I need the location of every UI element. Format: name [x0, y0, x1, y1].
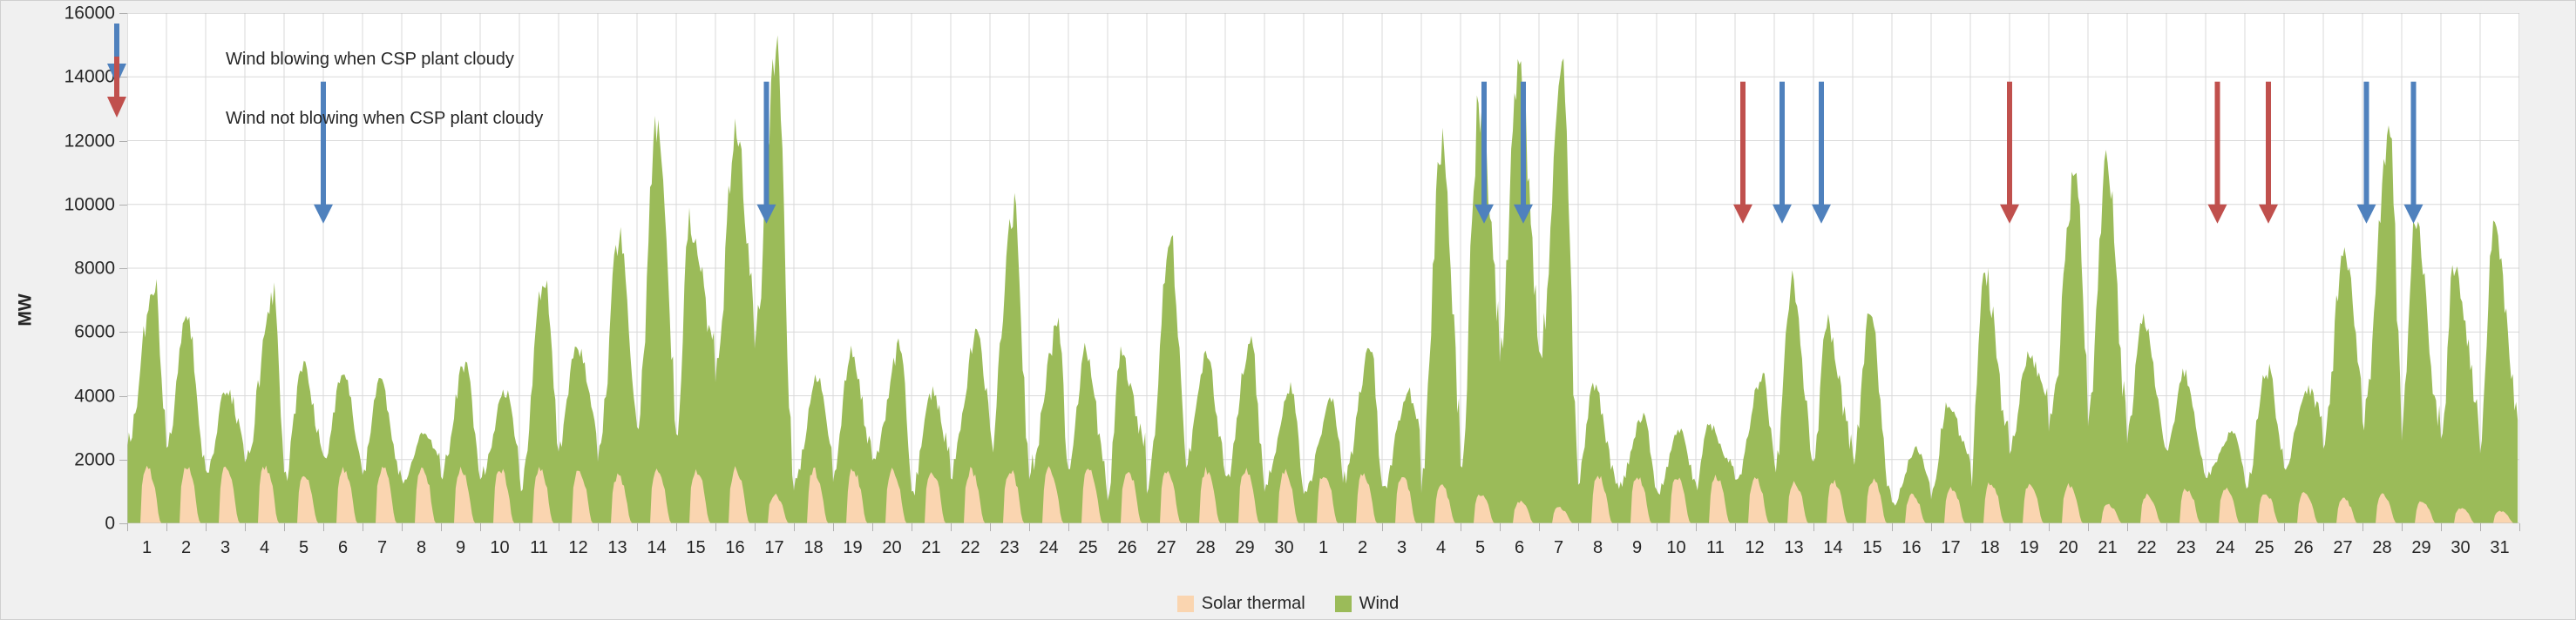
x-axis-tick-label: 13 — [607, 539, 627, 556]
annotation-key-wind-blowing-label: Wind blowing when CSP plant cloudy — [226, 50, 514, 69]
x-axis-tick-mark — [1774, 523, 1775, 531]
x-axis-tick-label: 30 — [2451, 539, 2470, 556]
x-axis-tick-mark — [1853, 523, 1854, 531]
x-axis-tick-mark — [1539, 523, 1540, 531]
annotation-key-arrow-wind-not-blowing — [104, 55, 130, 119]
chart-frame: Spain Electricity Sep 2015 wind and sola… — [0, 0, 2576, 620]
x-axis-tick-mark — [2519, 523, 2520, 531]
x-axis-tick-label: 4 — [1436, 539, 1446, 556]
annotation-arrow-blue-5 — [1773, 82, 1792, 224]
x-axis-tick-mark — [402, 523, 403, 531]
x-axis-tick-mark — [1931, 523, 1932, 531]
x-axis-tick-label: 30 — [1274, 539, 1293, 556]
x-axis-tick-label: 18 — [803, 539, 823, 556]
x-axis-tick-label: 17 — [764, 539, 783, 556]
x-axis-tick-mark — [833, 523, 834, 531]
x-axis-tick-mark — [2284, 523, 2285, 531]
x-axis-tick-label: 25 — [1078, 539, 1097, 556]
x-axis-tick-label: 31 — [2490, 539, 2509, 556]
x-axis-tick-label: 27 — [2333, 539, 2352, 556]
x-axis-tick-label: 28 — [2372, 539, 2391, 556]
x-axis-tick-mark — [872, 523, 873, 531]
y-axis-tick-label: 12000 — [64, 131, 115, 150]
x-axis-tick-label: 21 — [2098, 539, 2117, 556]
x-axis-tick-label: 12 — [568, 539, 587, 556]
x-axis-tick-label: 23 — [2176, 539, 2195, 556]
x-axis-tick-mark — [1264, 523, 1265, 531]
y-axis-tick-mark — [119, 523, 127, 524]
x-axis-tick-label: 24 — [2215, 539, 2234, 556]
x-axis-tick-mark — [715, 523, 716, 531]
x-axis-tick-mark — [519, 523, 520, 531]
x-axis-tick-mark — [480, 523, 481, 531]
legend-swatch-icon — [1177, 596, 1194, 612]
x-axis-tick-mark — [1108, 523, 1108, 531]
x-axis-tick-label: 12 — [1745, 539, 1764, 556]
x-axis-tick-mark — [1696, 523, 1697, 531]
x-axis-tick-mark — [2480, 523, 2481, 531]
x-axis-tick-label: 3 — [1397, 539, 1407, 556]
x-axis-tick-label: 21 — [921, 539, 940, 556]
x-axis-tick-mark — [2441, 523, 2442, 531]
x-axis-tick-label: 5 — [1475, 539, 1485, 556]
y-axis-tick-mark — [119, 141, 127, 142]
x-axis-tick-label: 9 — [1632, 539, 1642, 556]
x-axis-tick-mark — [1382, 523, 1383, 531]
x-axis-tick-label: 20 — [882, 539, 901, 556]
x-axis-tick-label: 29 — [1235, 539, 1254, 556]
x-axis-tick-mark — [1304, 523, 1305, 531]
x-axis-tick-mark — [598, 523, 599, 531]
x-axis-tick-label: 17 — [1941, 539, 1960, 556]
annotation-arrow-red-8 — [2208, 82, 2227, 224]
x-axis-tick-label: 18 — [1980, 539, 1999, 556]
annotation-key-wind-not-blowing: Wind not blowing when CSP plant cloudy — [226, 109, 543, 129]
x-axis-tick-mark — [1068, 523, 1069, 531]
x-axis-tick-mark — [245, 523, 246, 531]
y-axis-tick-label: 2000 — [74, 450, 115, 468]
x-axis-tick-mark — [990, 523, 991, 531]
x-axis-tick-label: 11 — [530, 539, 548, 556]
x-axis-tick-label: 20 — [2058, 539, 2078, 556]
x-axis-tick-mark — [637, 523, 638, 531]
x-axis-tick-label: 4 — [260, 539, 269, 556]
x-axis-tick-label: 19 — [843, 539, 862, 556]
x-axis-tick-mark — [2323, 523, 2324, 531]
x-axis-tick-mark — [166, 523, 167, 531]
x-axis-tick-label: 11 — [1706, 539, 1725, 556]
x-axis-tick-mark — [1578, 523, 1579, 531]
x-axis-tick-mark — [284, 523, 285, 531]
x-axis-tick-label: 8 — [1593, 539, 1603, 556]
x-axis-tick-mark — [1735, 523, 1736, 531]
legend-label: Solar thermal — [1202, 595, 1305, 612]
y-axis-tick-label: 10000 — [64, 195, 115, 213]
annotation-arrow-blue-11 — [2404, 82, 2423, 224]
x-axis-tick-label: 27 — [1156, 539, 1176, 556]
x-axis-tick-mark — [323, 523, 324, 531]
x-axis-tick-mark — [1892, 523, 1893, 531]
x-axis-tick-mark — [1225, 523, 1226, 531]
x-axis-tick-mark — [1421, 523, 1422, 531]
x-axis-tick-label: 7 — [377, 539, 387, 556]
x-axis-tick-mark — [1147, 523, 1148, 531]
annotation-arrow-red-7 — [2000, 82, 2019, 224]
annotation-arrows — [127, 13, 2519, 523]
x-axis-tick-label: 16 — [1901, 539, 1921, 556]
x-axis-tick-label: 15 — [686, 539, 705, 556]
x-axis-tick-label: 19 — [2019, 539, 2038, 556]
plot-area — [127, 13, 2519, 523]
x-axis-tick-mark — [1461, 523, 1461, 531]
x-axis-tick-mark — [2245, 523, 2246, 531]
x-axis-tick-mark — [2010, 523, 2010, 531]
x-axis-tick-mark — [2127, 523, 2128, 531]
x-axis-tick-label: 22 — [960, 539, 980, 556]
x-axis-tick-mark — [363, 523, 363, 531]
x-axis-tick-label: 29 — [2411, 539, 2430, 556]
x-axis-tick-label: 26 — [1117, 539, 1136, 556]
x-axis-tick-mark — [1617, 523, 1618, 531]
x-axis-tick-mark — [912, 523, 912, 531]
annotation-key-wind-not-blowing-label: Wind not blowing when CSP plant cloudy — [226, 109, 543, 128]
y-axis-tick-label: 4000 — [74, 387, 115, 405]
x-axis-tick-label: 10 — [490, 539, 509, 556]
y-axis-tick-mark — [119, 396, 127, 397]
chart-legend: Solar thermalWind — [1, 595, 2575, 612]
x-axis-tick-mark — [441, 523, 442, 531]
x-axis-tick-mark — [755, 523, 756, 531]
x-axis-tick-label: 3 — [220, 539, 230, 556]
x-axis-tick-label: 22 — [2137, 539, 2156, 556]
x-axis-tick-label: 5 — [299, 539, 308, 556]
x-axis-tick-mark — [1343, 523, 1344, 531]
x-axis-tick-label: 23 — [1000, 539, 1019, 556]
annotation-arrow-blue-0 — [314, 82, 333, 224]
x-axis-tick-label: 16 — [725, 539, 744, 556]
y-axis-tick-mark — [119, 332, 127, 333]
legend-item-wind[interactable]: Wind — [1335, 595, 1400, 612]
y-axis-tick-label: 16000 — [64, 4, 115, 23]
x-axis-tick-mark — [2166, 523, 2167, 531]
y-axis-tick-mark — [119, 13, 127, 14]
x-axis-tick-mark — [951, 523, 952, 531]
legend-label: Wind — [1359, 595, 1400, 612]
x-axis-tick-label: 26 — [2294, 539, 2313, 556]
legend-swatch-icon — [1335, 596, 1352, 612]
x-axis-tick-mark — [206, 523, 207, 531]
y-axis-tick-mark — [119, 460, 127, 461]
y-axis-tick-label: 6000 — [74, 323, 115, 341]
x-axis-tick-label: 15 — [1862, 539, 1881, 556]
x-axis-tick-mark — [676, 523, 677, 531]
x-axis-tick-label: 28 — [1196, 539, 1215, 556]
y-axis-tick-mark — [119, 205, 127, 206]
x-axis-tick-label: 24 — [1039, 539, 1058, 556]
y-axis-tick-label: 0 — [105, 515, 115, 533]
y-axis-tick-label: 8000 — [74, 259, 115, 278]
x-axis-tick-label: 2 — [181, 539, 191, 556]
x-axis-tick-mark — [559, 523, 559, 531]
x-axis-tick-mark — [127, 523, 128, 531]
x-axis-tick-label: 6 — [338, 539, 348, 556]
x-axis-tick-label: 1 — [142, 539, 152, 556]
x-axis-tick-label: 9 — [456, 539, 465, 556]
legend-item-solar-thermal[interactable]: Solar thermal — [1177, 595, 1305, 612]
x-axis-tick-label: 13 — [1784, 539, 1803, 556]
x-axis-tick-label: 8 — [417, 539, 426, 556]
x-axis-tick-label: 1 — [1319, 539, 1328, 556]
x-axis-tick-label: 14 — [647, 539, 666, 556]
x-axis-tick-mark — [2402, 523, 2403, 531]
x-axis-tick-label: 2 — [1358, 539, 1367, 556]
x-axis-tick-label: 10 — [1666, 539, 1685, 556]
x-axis-tick-mark — [2362, 523, 2363, 531]
annotation-arrow-blue-1 — [757, 82, 776, 224]
annotation-key-wind-blowing: Wind blowing when CSP plant cloudy — [226, 50, 514, 70]
x-axis-tick-label: 14 — [1823, 539, 1842, 556]
annotation-arrow-blue-2 — [1474, 82, 1494, 224]
x-axis-tick-mark — [2206, 523, 2207, 531]
annotation-arrow-red-4 — [1733, 82, 1752, 224]
x-axis-tick-mark — [1500, 523, 1501, 531]
x-axis-tick-mark — [794, 523, 795, 531]
annotation-arrow-blue-6 — [1812, 82, 1831, 224]
x-axis-tick-label: 25 — [2254, 539, 2274, 556]
x-axis-tick-mark — [1657, 523, 1657, 531]
x-axis-tick-mark — [1029, 523, 1030, 531]
x-axis-ticks: 1234567891011121314151617181920212223242… — [127, 523, 2519, 558]
x-axis-tick-label: 6 — [1515, 539, 1524, 556]
x-axis-tick-label: 7 — [1554, 539, 1563, 556]
annotation-arrow-blue-3 — [1514, 82, 1533, 224]
x-axis-tick-mark — [1186, 523, 1187, 531]
annotation-arrow-red-9 — [2259, 82, 2278, 224]
x-axis-tick-mark — [2049, 523, 2050, 531]
y-axis-tick-mark — [119, 268, 127, 269]
annotation-arrow-blue-10 — [2357, 82, 2376, 224]
x-axis-tick-mark — [1970, 523, 1971, 531]
x-axis-tick-mark — [2088, 523, 2089, 531]
x-axis-tick-mark — [1813, 523, 1814, 531]
